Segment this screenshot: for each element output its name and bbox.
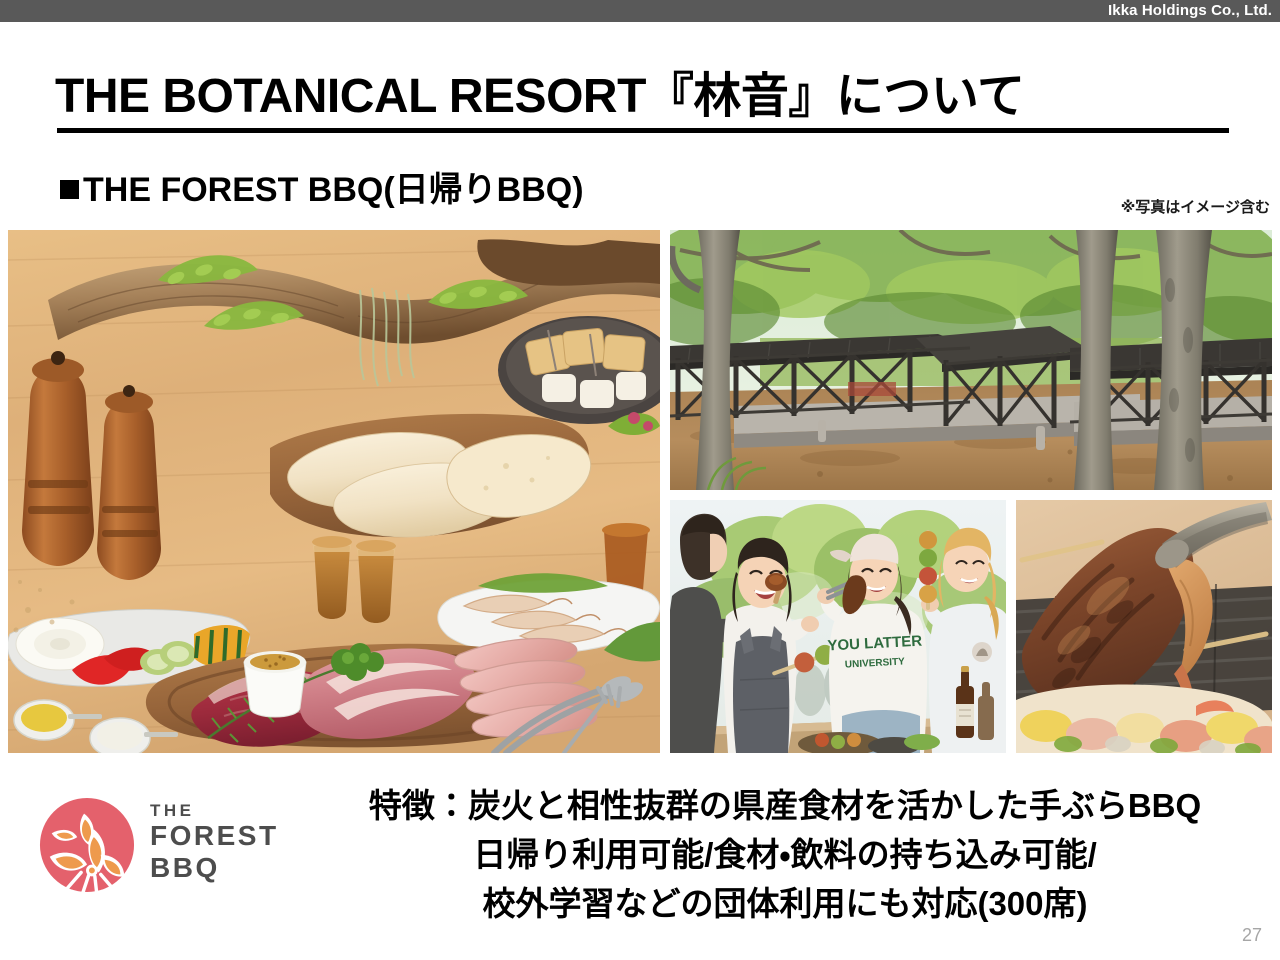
forest-bbq-logo-mark-icon <box>38 796 136 894</box>
caption-line-3: 校外学習などの団体利用にも対応(300席) <box>320 880 1250 929</box>
company-name-label: Ikka Holdings Co., Ltd. <box>1108 2 1272 19</box>
logo-line-the: THE <box>150 802 279 820</box>
top-brand-bar: Ikka Holdings Co., Ltd. <box>0 0 1280 22</box>
photo-grid: YOU LATTER UNIVERSITY <box>8 230 1272 753</box>
photo-grilled-meat-closeup <box>1016 500 1272 753</box>
page-title: THE BOTANICAL RESORT『林音』について <box>55 56 1024 126</box>
logo-line-forest: FOREST <box>150 820 279 852</box>
feature-caption: 特徴：炭火と相性抜群の県産食材を活かした手ぶらBBQ 日帰り利用可能/食材・飲料… <box>320 782 1250 928</box>
square-bullet-icon <box>60 180 79 199</box>
photo-bbq-pavilion-forest <box>670 230 1272 490</box>
forest-bbq-logo: THE FOREST BBQ <box>38 790 338 900</box>
photo-bbq-ingredients-spread <box>8 230 660 753</box>
page-number: 27 <box>1242 925 1262 946</box>
photo-guests-enjoying-bbq: YOU LATTER UNIVERSITY <box>670 500 1006 753</box>
caption-line-1: 特徴：炭火と相性抜群の県産食材を活かした手ぶらBBQ <box>320 782 1250 831</box>
logo-line-bbq: BBQ <box>150 852 279 884</box>
section-subheading-label: THE FOREST BBQ(日帰りBBQ) <box>83 171 584 209</box>
photo-disclaimer-note: ※写真はイメージ含む <box>1121 196 1270 217</box>
section-subheading: THE FOREST BBQ(日帰りBBQ) <box>60 162 584 211</box>
caption-line-2: 日帰り利用可能/食材・飲料の持ち込み可能/ <box>320 831 1250 880</box>
forest-bbq-logo-wordmark: THE FOREST BBQ <box>150 802 279 884</box>
title-underline-rule <box>57 128 1229 133</box>
